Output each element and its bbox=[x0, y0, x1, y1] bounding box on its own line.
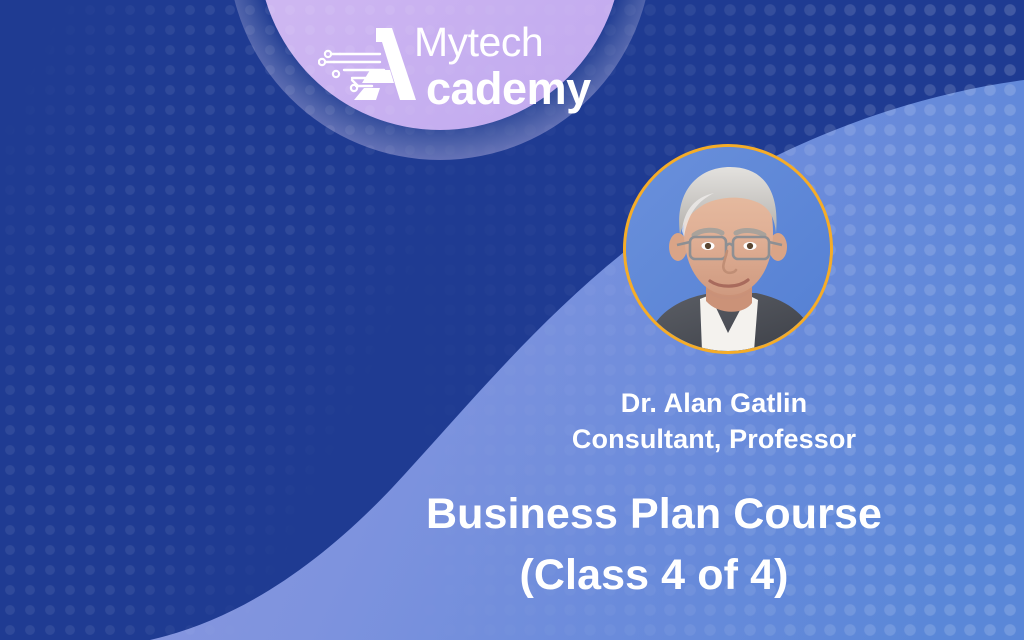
title-slide: Mytech cademy bbox=[0, 0, 1024, 640]
speaker-avatar bbox=[623, 144, 833, 354]
speaker-role: Consultant, Professor bbox=[404, 422, 1024, 458]
brand-logo-word-top: Mytech bbox=[414, 22, 591, 63]
brand-logo-wordmark: Mytech cademy bbox=[406, 22, 591, 111]
course-title-line-1: Business Plan Course bbox=[344, 487, 964, 542]
brand-logo-word-bottom: cademy bbox=[426, 66, 591, 111]
speaker-name: Dr. Alan Gatlin bbox=[404, 386, 1024, 422]
speaker-headshot-image bbox=[626, 147, 830, 351]
course-title-line-2: (Class 4 of 4) bbox=[344, 548, 964, 603]
speaker-info: Dr. Alan Gatlin Consultant, Professor bbox=[404, 386, 1024, 457]
course-title: Business Plan Course (Class 4 of 4) bbox=[344, 487, 964, 603]
brand-logo[interactable]: Mytech cademy bbox=[318, 18, 568, 110]
